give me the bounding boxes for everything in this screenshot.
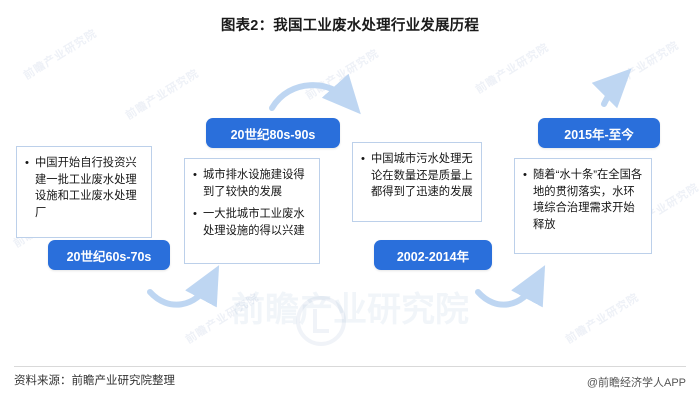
footer-divider xyxy=(14,366,686,367)
stage-2-item: 一大批城市工业废水处理设施的得以兴建 xyxy=(202,206,313,239)
stage-2-period-label[interactable]: 20世纪80s-90s xyxy=(206,118,340,148)
stage-3-item: 中国城市污水处理无论在数量还是质量上都得到了迅速的发展 xyxy=(370,151,475,201)
source-note: 资料来源：前瞻产业研究院整理 xyxy=(14,372,175,388)
stage-1-content: 中国开始自行投资兴建一批工业废水处理设施和工业废水处理厂 xyxy=(16,146,152,238)
stage-3-period-label[interactable]: 2002-2014年 xyxy=(374,240,492,270)
stage-2-content: 城市排水设施建设得到了较快的发展 一大批城市工业废水处理设施的得以兴建 xyxy=(184,158,320,264)
stage-2-item: 城市排水设施建设得到了较快的发展 xyxy=(202,167,313,200)
stage-1-period-label[interactable]: 20世纪60s-70s xyxy=(48,240,170,270)
stage-4-period-label[interactable]: 2015年-至今 xyxy=(538,118,660,148)
stage-1-item: 中国开始自行投资兴建一批工业废水处理设施和工业废水处理厂 xyxy=(34,155,145,221)
stage-4-item: 随着“水十条”在全国各地的贯彻落实，水环境综合治理需求开始释放 xyxy=(532,167,645,233)
brand-credit: @前瞻经济学人APP xyxy=(587,374,686,390)
diagram-canvas: 前瞻产业研究院 前瞻产业研究院 前瞻产业研究院 前瞻产业研究院 前瞻产业研究院 … xyxy=(0,0,700,400)
stage-3-content: 中国城市污水处理无论在数量还是质量上都得到了迅速的发展 xyxy=(352,142,482,222)
stage-4-content: 随着“水十条”在全国各地的贯彻落实，水环境综合治理需求开始释放 xyxy=(514,158,652,254)
